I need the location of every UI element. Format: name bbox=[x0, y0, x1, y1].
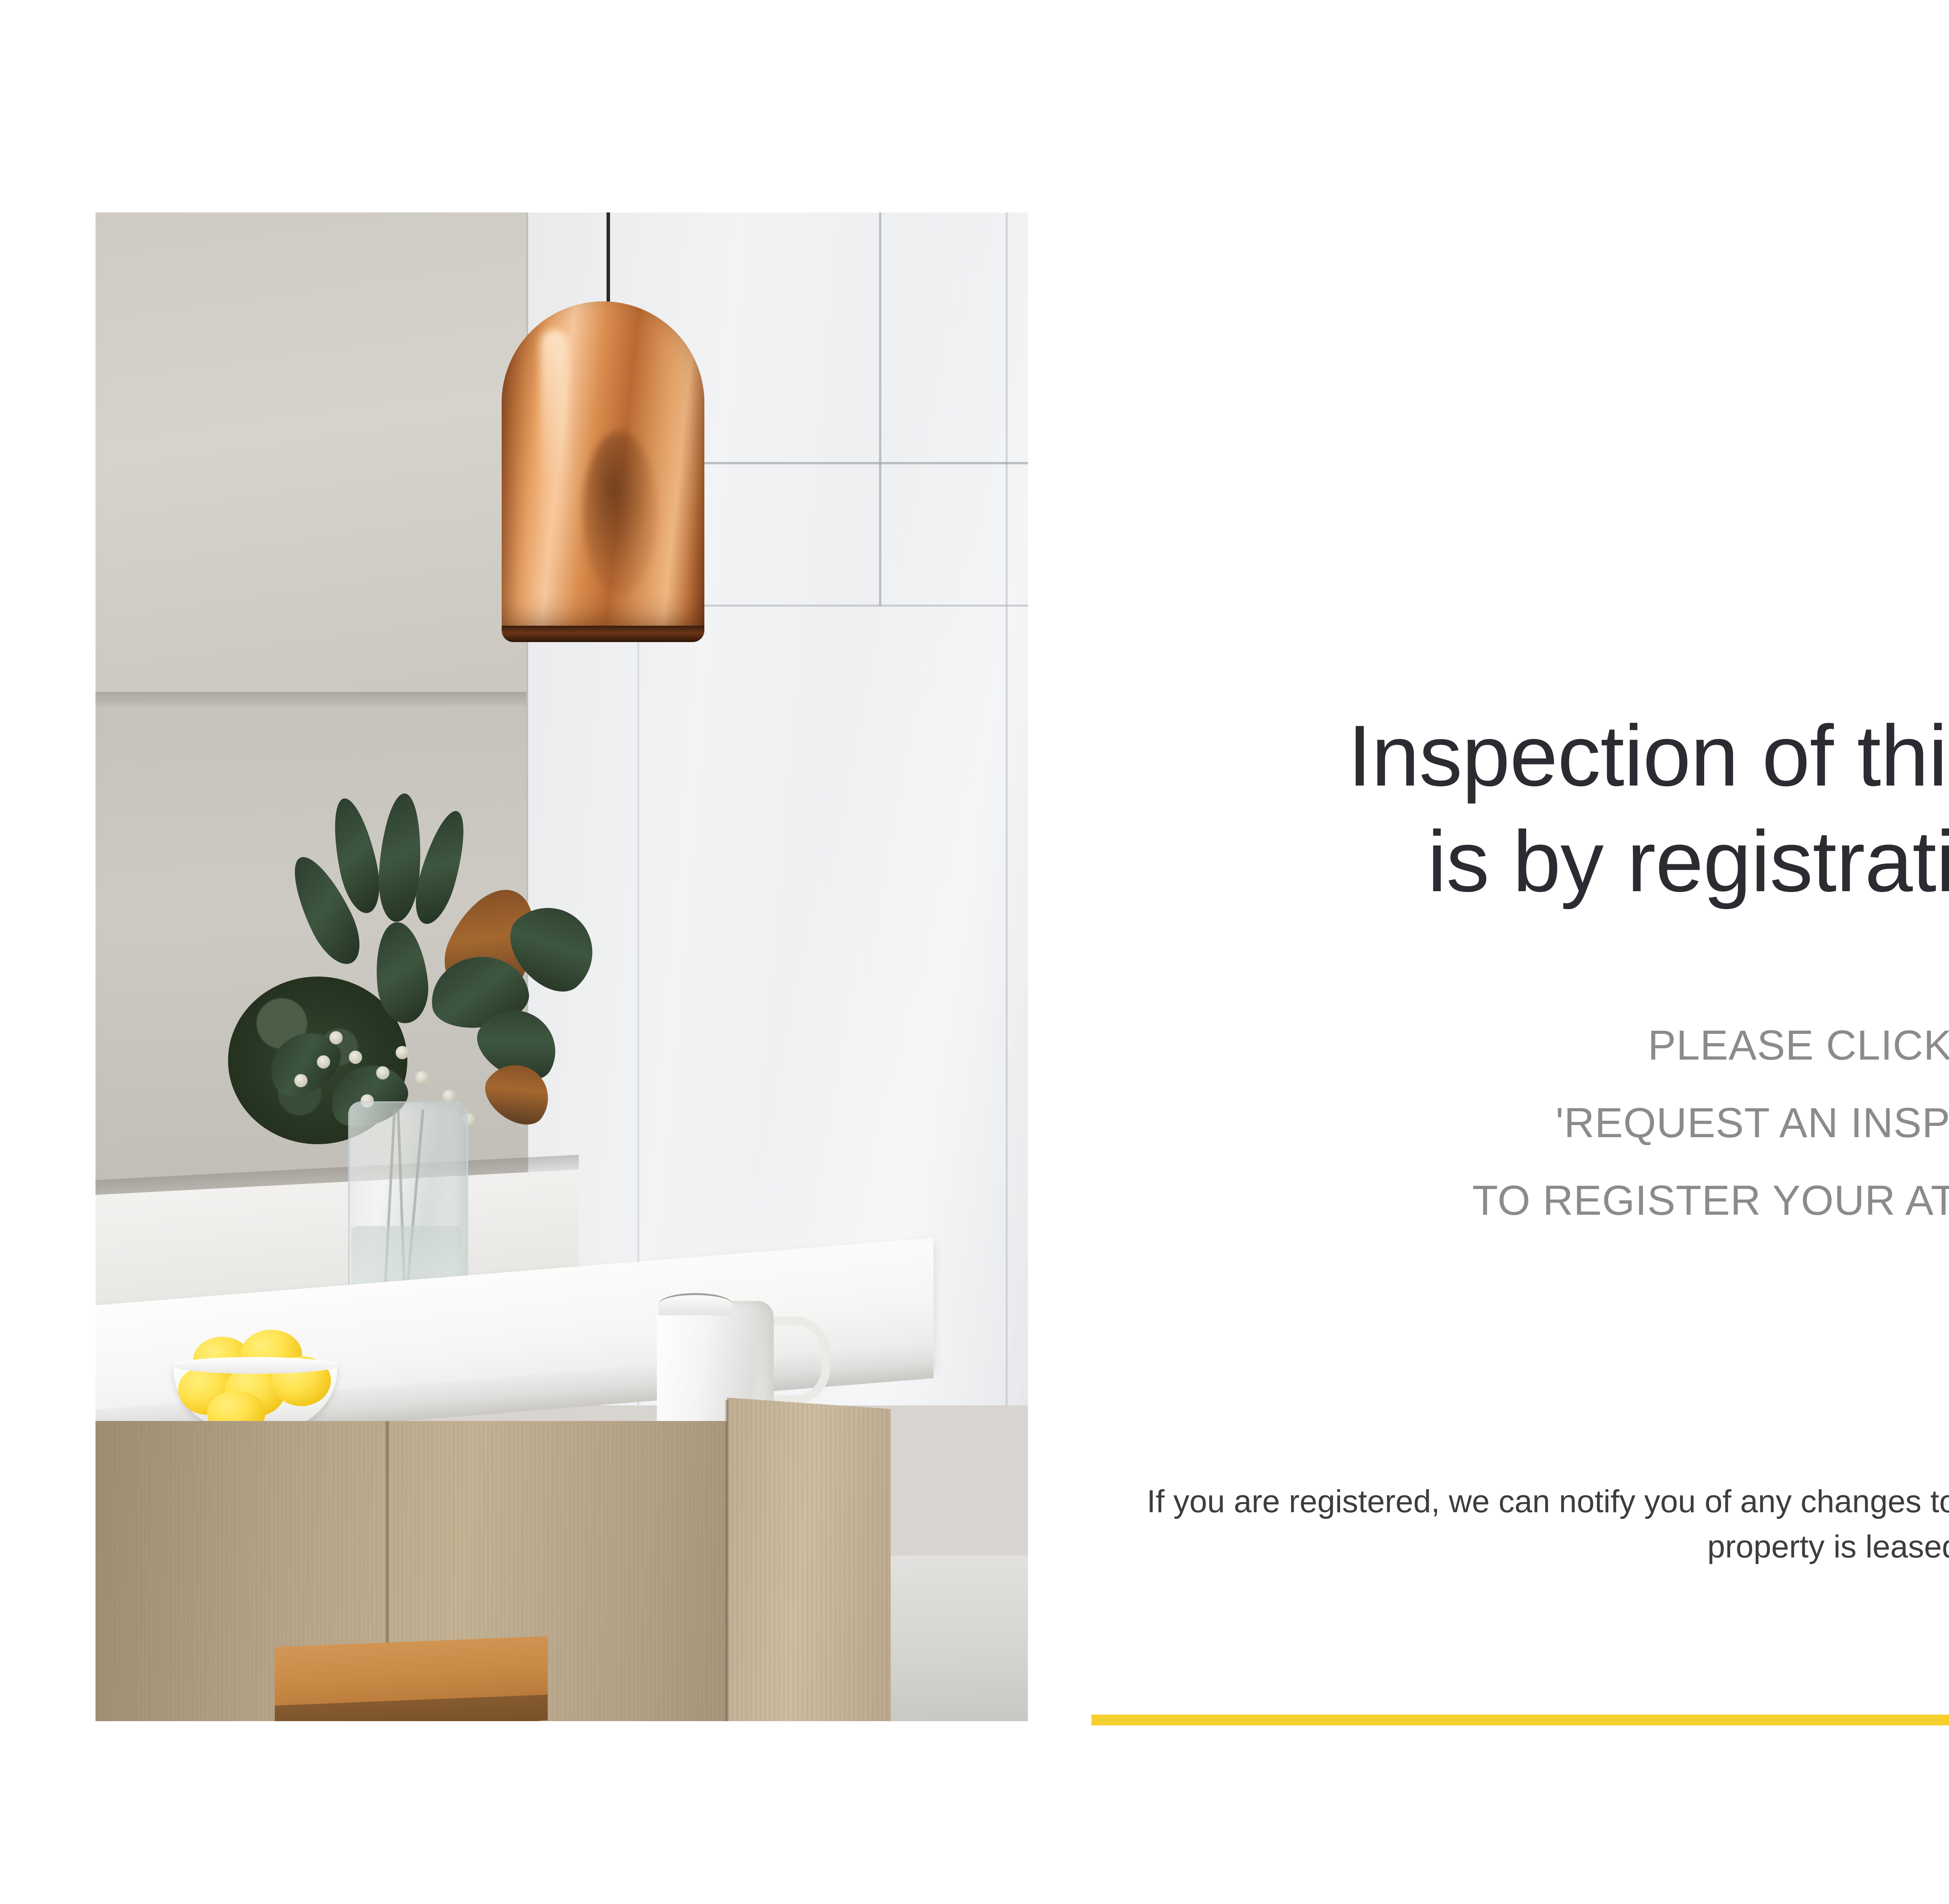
instruction-line-3: TO REGISTER YOUR ATTENDANCE. bbox=[1091, 1176, 1949, 1225]
jug-handle bbox=[764, 1317, 830, 1404]
headline-line-1: Inspection of this property bbox=[1348, 708, 1949, 804]
instruction-line-1: PLEASE CLICK ON bbox=[1091, 1021, 1949, 1069]
kitchen-wall bbox=[96, 212, 526, 698]
cabinet-seam bbox=[1006, 212, 1008, 1405]
wall-shadow bbox=[96, 692, 526, 708]
photo-scene bbox=[96, 212, 1028, 1721]
property-photo bbox=[96, 212, 1028, 1721]
registration-note: If you are registered, we can notify you… bbox=[1091, 1479, 1949, 1570]
pendant-reflection bbox=[583, 431, 657, 595]
timber-stool bbox=[275, 1636, 548, 1706]
cabinet-seam bbox=[879, 212, 881, 606]
jug-spout bbox=[658, 1293, 732, 1315]
island-side-panel bbox=[727, 1398, 891, 1721]
pendant-cord bbox=[607, 212, 610, 304]
island-seam bbox=[725, 1400, 729, 1721]
instruction-line-2: 'REQUEST AN INSPECTION' bbox=[1091, 1098, 1949, 1147]
page-title: Inspection of this property is by regist… bbox=[1091, 703, 1949, 915]
pendant-highlight bbox=[541, 329, 568, 579]
pendant-rim bbox=[502, 626, 704, 642]
headline-line-2: is by registration only. bbox=[1427, 813, 1949, 910]
notice-content: RayWhite® Inspection of this property is… bbox=[1091, 0, 1949, 1904]
fruit-bowl-rim bbox=[172, 1357, 339, 1374]
instruction-block: PLEASE CLICK ON 'REQUEST AN INSPECTION' … bbox=[1091, 1021, 1949, 1225]
footer-divider bbox=[1091, 1715, 1949, 1725]
